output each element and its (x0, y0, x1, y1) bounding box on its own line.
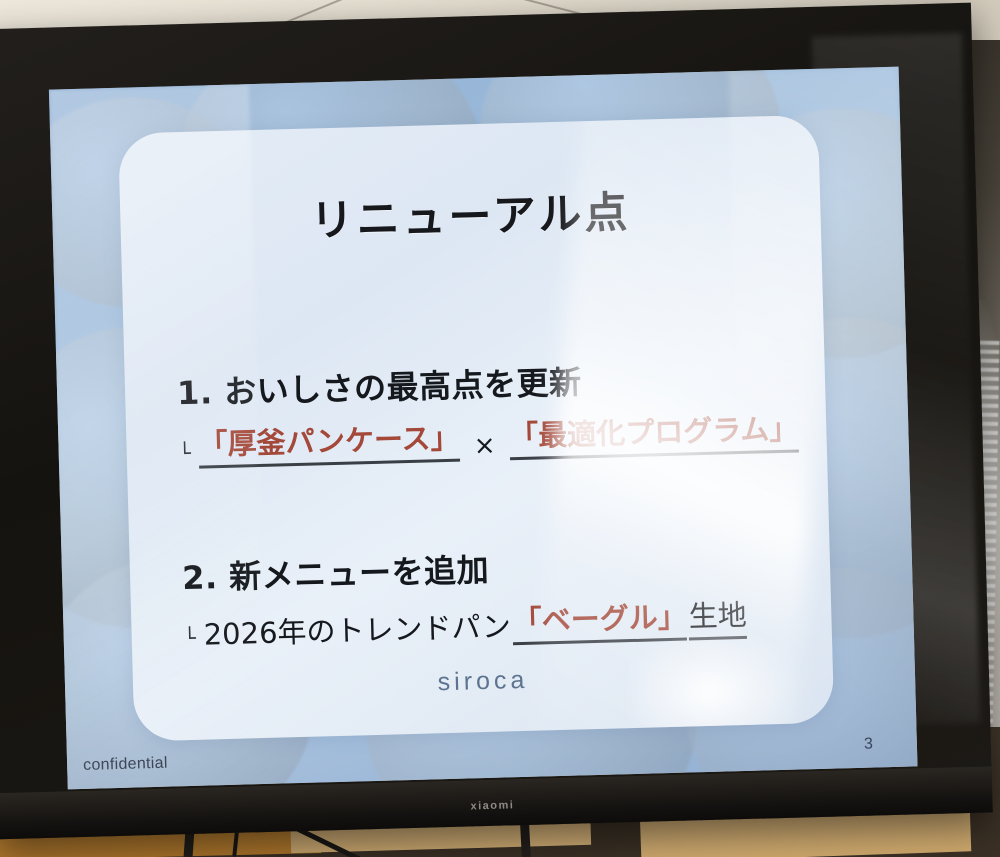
room-scene: リニューアル点 1. おいしさの最高点を更新 └ 「厚釜パンケース」 × 「最適… (0, 0, 1000, 857)
slide-content-card: リニューアル点 1. おいしさの最高点を更新 └ 「厚釜パンケース」 × 「最適… (118, 115, 834, 742)
bullet-heading-text: おいしさの最高点を更新 (224, 363, 582, 411)
confidential-label: confidential (83, 755, 168, 775)
highlight-term: 「厚釜パンケース」 (198, 415, 460, 469)
bullet-number: 2. (182, 558, 218, 597)
bullet-number: 1. (177, 373, 213, 412)
tv-brand-logo: xiaomi (470, 799, 514, 812)
tv-screen: リニューアル点 1. おいしさの最高点を更新 └ 「厚釜パンケース」 × 「最適… (49, 67, 918, 790)
corner-marker-icon: └ (183, 622, 196, 654)
corner-marker-icon: └ (178, 437, 191, 469)
television: リニューアル点 1. おいしさの最高点を更新 └ 「厚釜パンケース」 × 「最適… (0, 3, 993, 840)
bullet-heading-text: 新メニューを追加 (229, 551, 490, 596)
subline-plain-text: 2026年のトレンドパン (203, 603, 511, 653)
multiply-operator: × (461, 430, 508, 461)
page-number: 3 (864, 736, 873, 754)
